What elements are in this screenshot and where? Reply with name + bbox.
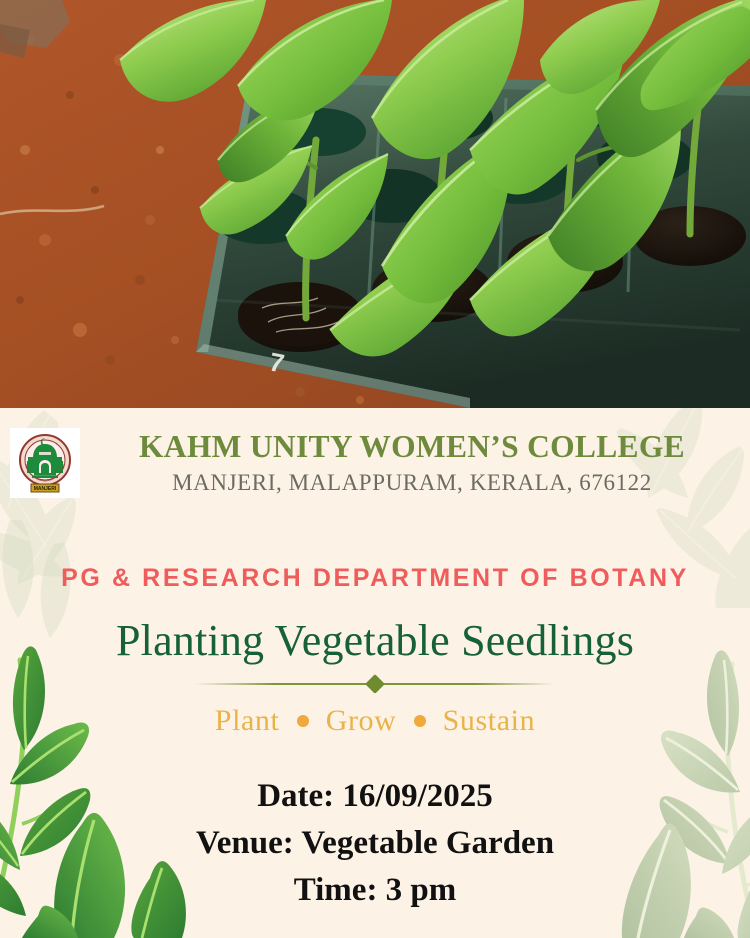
tagline-word-plant: Plant <box>215 704 280 737</box>
event-date: Date: 16/09/2025 <box>0 773 750 820</box>
college-name: KAHM UNITY WOMEN’S COLLEGE <box>92 430 732 465</box>
event-poster: 7 5 <box>0 0 750 938</box>
svg-text:MANJERI: MANJERI <box>34 486 57 492</box>
poster-body: MANJERI KAHM UNITY WOMEN’S COLLEGE MANJE… <box>0 408 750 938</box>
event-tagline: Plant Grow Sustain <box>0 704 750 738</box>
event-venue: Venue: Vegetable Garden <box>0 820 750 867</box>
college-logo: MANJERI <box>10 428 80 498</box>
bullet-dot-icon <box>414 715 426 727</box>
college-address: MANJERI, MALAPPURAM, KERALA, 676122 <box>92 470 732 496</box>
ornamental-divider <box>195 676 555 692</box>
tagline-word-grow: Grow <box>326 704 397 737</box>
department-name: PG & RESEARCH DEPARTMENT OF BOTANY <box>0 564 750 593</box>
bullet-dot-icon <box>297 715 309 727</box>
event-time: Time: 3 pm <box>0 867 750 914</box>
seedling-tray-photo: 7 5 <box>0 0 750 408</box>
event-title: Planting Vegetable Seedlings <box>0 616 750 667</box>
tagline-word-sustain: Sustain <box>443 704 536 737</box>
diamond-ornament-icon <box>365 674 385 694</box>
college-header: MANJERI KAHM UNITY WOMEN’S COLLEGE MANJE… <box>0 418 750 518</box>
event-details: Date: 16/09/2025 Venue: Vegetable Garden… <box>0 773 750 914</box>
